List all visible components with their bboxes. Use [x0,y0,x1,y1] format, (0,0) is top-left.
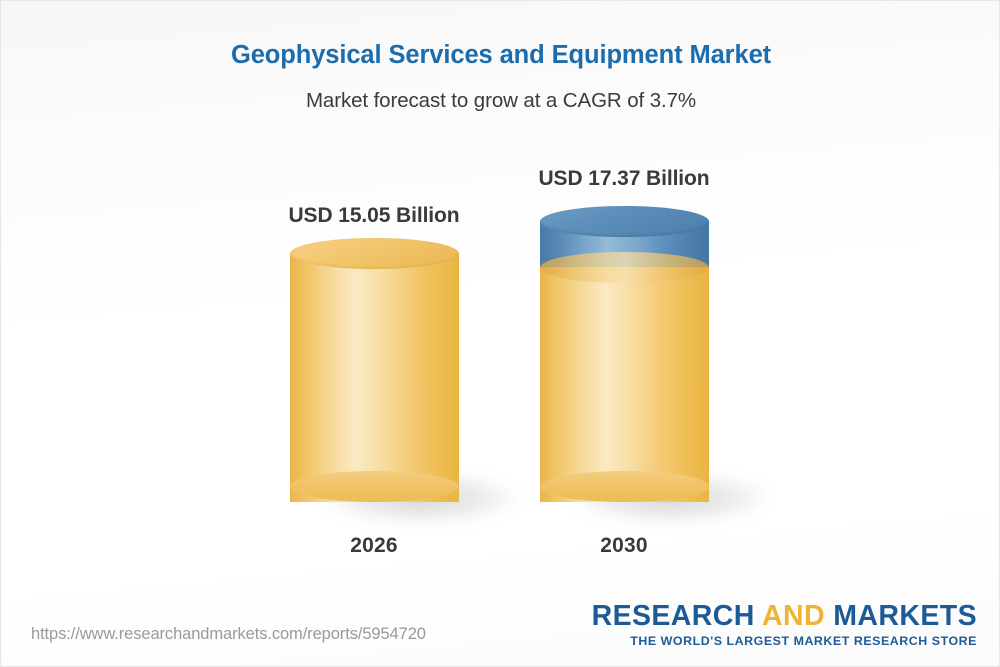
logo-word-research: RESEARCH [592,600,755,632]
brand-logo[interactable]: RESEARCH AND MARKETS THE WORLD'S LARGEST… [592,602,977,648]
source-url[interactable]: https://www.researchandmarkets.com/repor… [31,625,426,644]
bar-body-base-2030 [540,267,709,502]
logo-word-markets: MARKETS [833,600,977,632]
bar-top-ellipse-2030 [540,206,709,237]
chart-card: Geophysical Services and Equipment Marke… [0,0,1000,667]
bar-group-2030[interactable]: USD 17.37 Billion 2030 [1,1,1000,601]
bar-bottom-ellipse-2030 [540,471,709,502]
bar-category-label-2030: 2030 [464,534,784,558]
logo-word-and: AND [762,600,825,632]
bar-segment-seam-2030 [540,252,709,283]
logo-wordmark: RESEARCH AND MARKETS [592,602,977,631]
logo-tagline: THE WORLD'S LARGEST MARKET RESEARCH STOR… [592,634,977,648]
bar-value-label-2030: USD 17.37 Billion [464,167,784,191]
chart-plot-area: USD 15.05 Billion 2026 USD 17.37 Billion [1,1,1000,601]
